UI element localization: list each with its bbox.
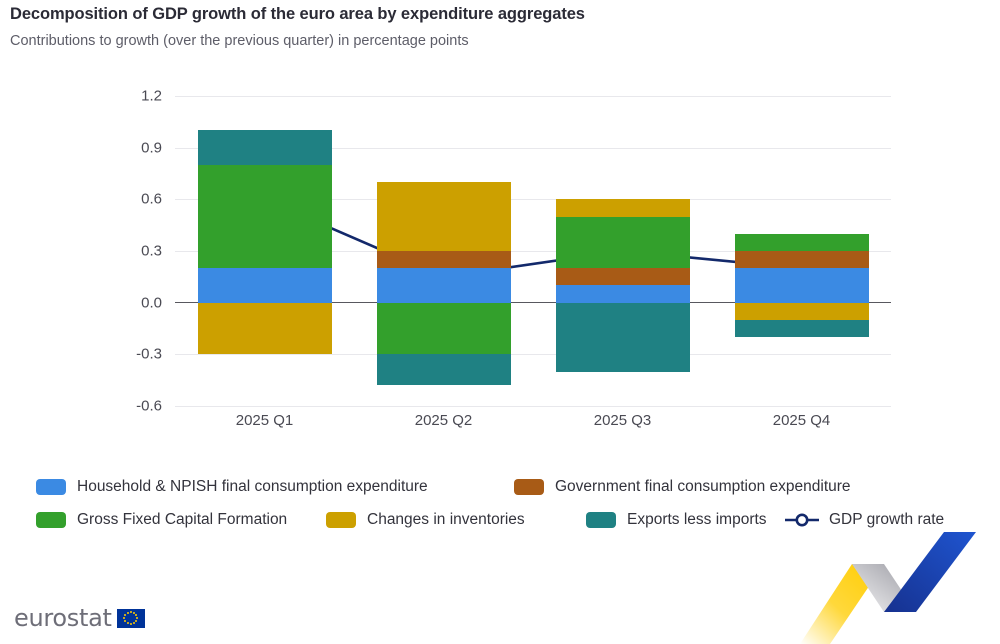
ribbon-decoration-icon <box>800 530 1000 644</box>
bar-segment[interactable] <box>198 268 332 302</box>
y-axis-tick-label: 1.2 <box>102 88 162 105</box>
bar-segment[interactable] <box>735 303 869 320</box>
eu-flag-star <box>123 617 125 619</box>
gdp-growth-rate-path <box>265 199 802 276</box>
eu-flag-star <box>133 622 135 624</box>
bar-group[interactable] <box>556 96 690 406</box>
gridline <box>175 406 891 407</box>
legend-label: Government final consumption expenditure <box>555 478 851 496</box>
chart-legend: Household & NPISH final consumption expe… <box>36 470 976 536</box>
x-axis: 2025 Q12025 Q22025 Q32025 Q4 <box>175 412 891 436</box>
bar-group[interactable] <box>377 96 511 406</box>
legend-swatch-net-exports <box>586 512 616 528</box>
x-axis-tick-label: 2025 Q3 <box>594 412 652 429</box>
legend-swatch-gfcf <box>36 512 66 528</box>
page-title: Decomposition of GDP growth of the euro … <box>10 5 585 24</box>
chart-subtitle: Contributions to growth (over the previo… <box>10 33 469 49</box>
chart-container: Decomposition of GDP growth of the euro … <box>0 0 1000 644</box>
bar-segment[interactable] <box>735 251 869 268</box>
eurostat-logo: eurostat <box>14 604 145 632</box>
eu-flag-star <box>135 614 137 616</box>
bar-segment[interactable] <box>198 130 332 164</box>
y-axis-tick-label: 0.0 <box>102 294 162 311</box>
x-axis-tick-label: 2025 Q1 <box>236 412 294 429</box>
eu-flag-star <box>127 612 129 614</box>
bar-segment[interactable] <box>377 251 511 268</box>
legend-line-marker-icon <box>784 512 820 528</box>
bar-segment[interactable] <box>198 165 332 268</box>
bar-segment[interactable] <box>556 303 690 372</box>
legend-swatch-household <box>36 479 66 495</box>
legend-item-gfcf[interactable]: Gross Fixed Capital Formation <box>36 503 287 536</box>
eu-flag-star <box>124 614 126 616</box>
legend-label: Exports less imports <box>627 511 767 529</box>
legend-item-net-exports[interactable]: Exports less imports <box>586 503 767 536</box>
y-axis-tick-label: 0.9 <box>102 139 162 156</box>
plot-area <box>175 96 891 406</box>
eurostat-wordmark: eurostat <box>14 604 112 632</box>
bar-segment[interactable] <box>556 199 690 216</box>
bar-group[interactable] <box>198 96 332 406</box>
eu-flag-star <box>130 623 132 625</box>
eu-flag-icon <box>117 609 145 628</box>
bar-segment[interactable] <box>556 285 690 302</box>
bar-segment[interactable] <box>377 303 511 355</box>
eu-flag-star <box>136 617 138 619</box>
legend-item-government[interactable]: Government final consumption expenditure <box>514 470 851 503</box>
legend-item-household[interactable]: Household & NPISH final consumption expe… <box>36 470 428 503</box>
bar-segment[interactable] <box>735 268 869 302</box>
eu-flag-star <box>130 611 132 613</box>
x-axis-tick-label: 2025 Q4 <box>773 412 831 429</box>
bar-segment[interactable] <box>198 303 332 355</box>
legend-label: Gross Fixed Capital Formation <box>77 511 287 529</box>
bar-segment[interactable] <box>735 234 869 251</box>
eu-flag-star <box>127 622 129 624</box>
bar-group[interactable] <box>735 96 869 406</box>
bar-segment[interactable] <box>377 182 511 251</box>
y-axis: 1.20.90.60.30.0-0.3-0.6 <box>100 96 162 406</box>
bar-segment[interactable] <box>556 268 690 285</box>
legend-label: GDP growth rate <box>829 511 944 529</box>
eu-flag-star <box>124 620 126 622</box>
eu-flag-star <box>135 620 137 622</box>
bar-segment[interactable] <box>377 354 511 385</box>
x-axis-tick-label: 2025 Q2 <box>415 412 473 429</box>
y-axis-tick-label: -0.3 <box>102 346 162 363</box>
y-axis-tick-label: 0.6 <box>102 191 162 208</box>
bar-segment[interactable] <box>735 320 869 337</box>
legend-swatch-inventories <box>326 512 356 528</box>
legend-label: Changes in inventories <box>367 511 525 529</box>
bar-segment[interactable] <box>556 217 690 269</box>
legend-label: Household & NPISH final consumption expe… <box>77 478 428 496</box>
legend-row: Household & NPISH final consumption expe… <box>36 470 976 503</box>
legend-item-inventories[interactable]: Changes in inventories <box>326 503 525 536</box>
y-axis-tick-label: 0.3 <box>102 243 162 260</box>
y-axis-tick-label: -0.6 <box>102 398 162 415</box>
bar-segment[interactable] <box>377 268 511 302</box>
legend-swatch-government <box>514 479 544 495</box>
